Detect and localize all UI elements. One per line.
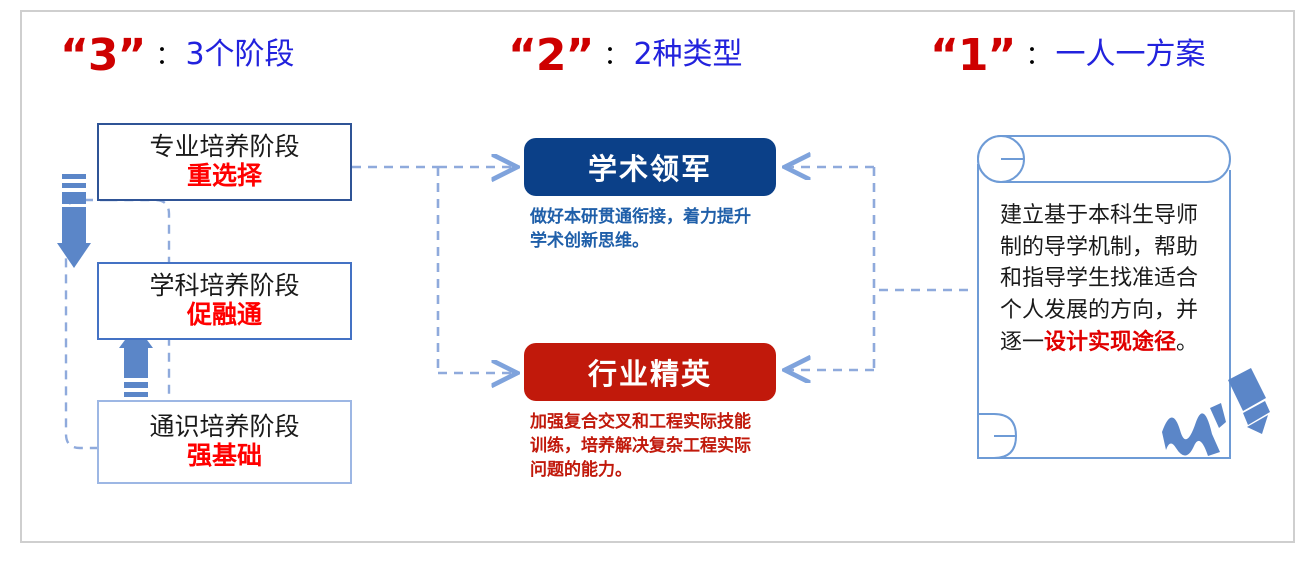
- type-chip-industry[interactable]: 行业精英: [524, 343, 776, 401]
- stage-1-title: 专业培养阶段: [149, 133, 299, 162]
- stage-2-title: 学科培养阶段: [149, 272, 299, 301]
- type-chip-academic[interactable]: 学术领军: [524, 138, 776, 196]
- plan-text-emphasis: 设计实现途径: [1044, 330, 1176, 355]
- header-types-colon: ：: [593, 40, 633, 70]
- type-chip-academic-label: 学术领军: [588, 146, 712, 188]
- header-stages-colon: ：: [145, 40, 185, 70]
- header-types: “2”：2种类型: [508, 34, 743, 78]
- header-plan-label: 一人一方案: [1055, 37, 1205, 72]
- header-plan-colon: ：: [1015, 40, 1055, 70]
- stage-1-key: 重选择: [187, 162, 262, 191]
- pen-writing-icon: [1150, 360, 1270, 470]
- stage-2-key: 促融通: [187, 301, 262, 330]
- header-stages-number: “3”: [60, 30, 145, 81]
- header-types-number: “2”: [508, 30, 593, 81]
- header-plan: “1”：一人一方案: [930, 34, 1205, 78]
- stage-3-title: 通识培养阶段: [149, 413, 299, 442]
- diagram-canvas: “3”：3个阶段 “2”：2种类型 “1”：一人一方案: [0, 0, 1316, 562]
- plan-text: 建立基于本科生导师制的导学机制，帮助和指导学生找准适合个人发展的方向，并逐一设计…: [1000, 200, 1218, 358]
- stage-box-1[interactable]: 专业培养阶段 重选择: [97, 123, 352, 201]
- type-chip-industry-label: 行业精英: [588, 351, 712, 393]
- header-stages: “3”：3个阶段: [60, 34, 295, 78]
- stage-box-3[interactable]: 通识培养阶段 强基础: [97, 400, 352, 484]
- header-stages-label: 3个阶段: [185, 37, 294, 72]
- plan-text-tail: 。: [1176, 330, 1198, 355]
- stage-box-2[interactable]: 学科培养阶段 促融通: [97, 262, 352, 340]
- type-desc-industry: 加强复合交叉和工程实际技能训练，培养解决复杂工程实际问题的能力。: [530, 410, 762, 482]
- header-types-label: 2种类型: [633, 37, 742, 72]
- stage-3-key: 强基础: [187, 442, 262, 471]
- type-desc-academic: 做好本研贯通衔接，着力提升学术创新思维。: [530, 205, 762, 253]
- header-plan-number: “1”: [930, 30, 1015, 81]
